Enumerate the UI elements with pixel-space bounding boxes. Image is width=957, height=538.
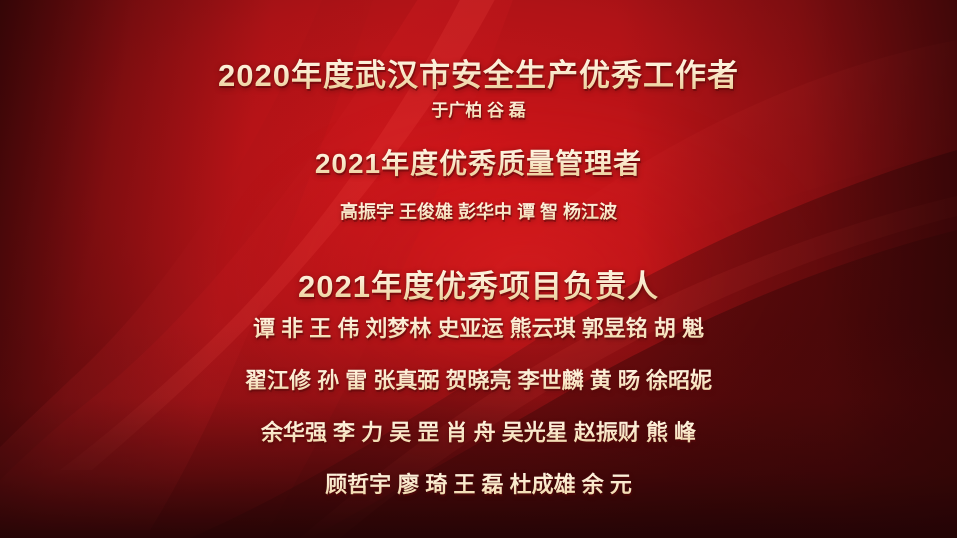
- section-2021-quality-title-wrap: 2021年度优秀质量管理者: [0, 142, 957, 182]
- section-2020-safety-title: 2020年度武汉市安全生产优秀工作者: [0, 50, 957, 95]
- section-2020-safety-name-row-1: 于广柏 谷 磊: [0, 96, 957, 121]
- section-2021-project-leader-name-row-2: 翟江修 孙 雷 张真弼 贺晓亮 李世麟 黄 旸 徐昭妮: [0, 363, 957, 395]
- section-2021-project-leader-title: 2021年度优秀项目负责人: [0, 261, 957, 306]
- section-2021-project-leader-name-row-4: 顾哲宇 廖 琦 王 磊 杜成雄 余 元: [0, 467, 957, 499]
- section-2021-quality-names-wrap: 高振宇 王俊雄 彭华中 谭 智 杨江波: [0, 198, 957, 224]
- section-2021-quality-title: 2021年度优秀质量管理者: [0, 142, 957, 182]
- award-honor-slide: 2020年度武汉市安全生产优秀工作者 于广柏 谷 磊 2021年度优秀质量管理者…: [0, 0, 957, 538]
- section-2020-safety-title-wrap: 2020年度武汉市安全生产优秀工作者: [0, 50, 957, 95]
- section-2021-project-leader-name-row-1: 谭 非 王 伟 刘梦林 史亚运 熊云琪 郭昱铭 胡 魁: [0, 311, 957, 343]
- section-2021-project-leader-names-wrap: 谭 非 王 伟 刘梦林 史亚运 熊云琪 郭昱铭 胡 魁 翟江修 孙 雷 张真弼 …: [0, 311, 957, 499]
- section-2020-safety-names-wrap: 于广柏 谷 磊: [0, 96, 957, 121]
- slide-content: 2020年度武汉市安全生产优秀工作者 于广柏 谷 磊 2021年度优秀质量管理者…: [0, 0, 957, 538]
- section-2021-quality-name-row-1: 高振宇 王俊雄 彭华中 谭 智 杨江波: [0, 198, 957, 224]
- section-2021-project-leader-name-row-3: 余华强 李 力 吴 罡 肖 舟 吴光星 赵振财 熊 峰: [0, 415, 957, 447]
- section-2021-project-leader-title-wrap: 2021年度优秀项目负责人: [0, 261, 957, 306]
